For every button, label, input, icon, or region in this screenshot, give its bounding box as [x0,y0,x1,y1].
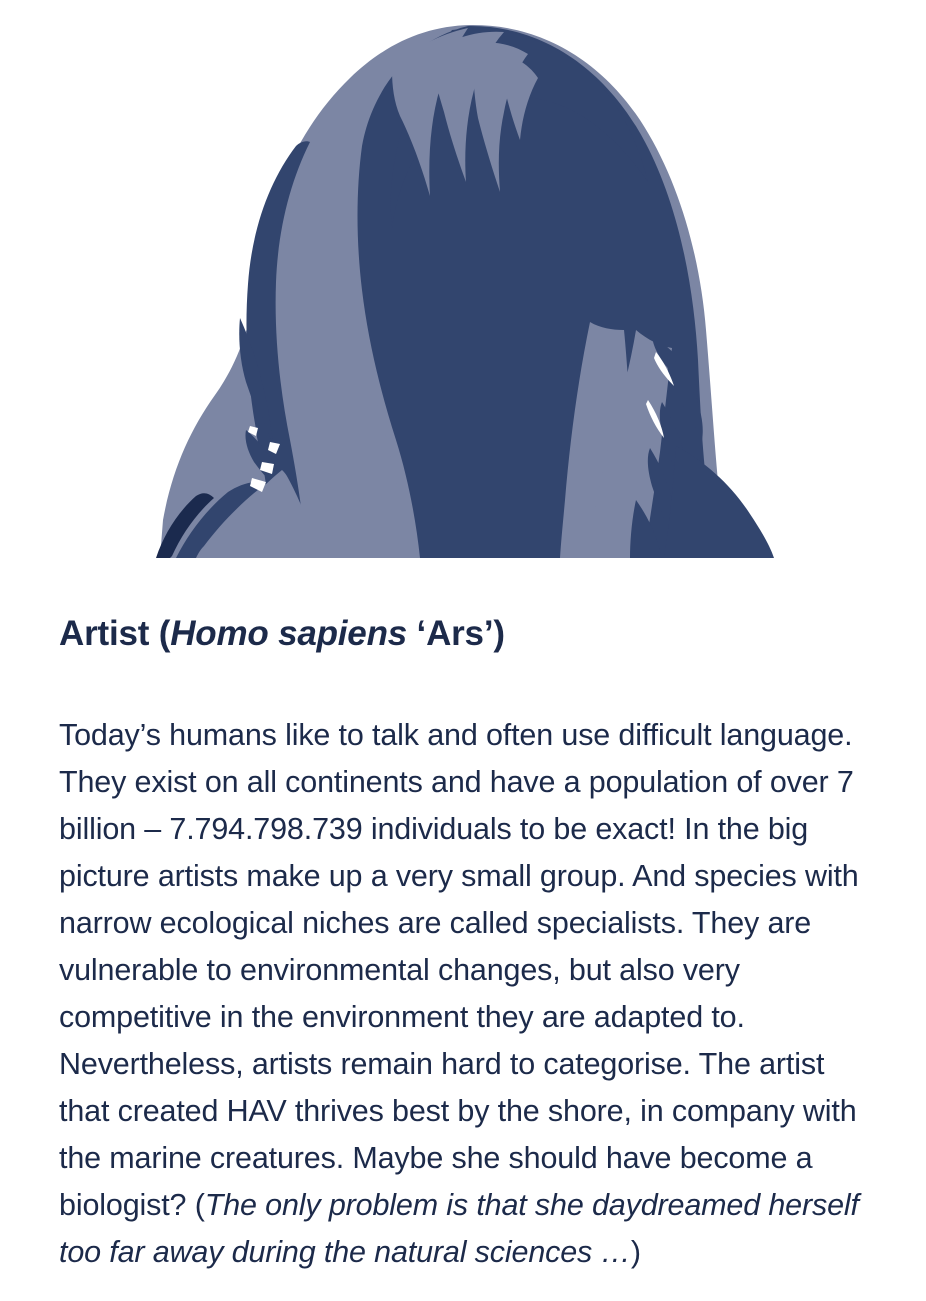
species-variety-name: ‘Ars’) [407,614,505,653]
artist-portrait-illustration [0,0,926,600]
species-common-name: Artist ( [59,614,170,653]
species-scientific-name: Homo sapiens [170,614,407,653]
species-article: Artist (Homo sapiens ‘Ars’) Today’s huma… [59,612,871,1276]
page-title: Artist (Homo sapiens ‘Ars’) [59,612,871,656]
description-main-text: Today’s humans like to talk and often us… [59,718,859,1222]
aside-open-paren: ( [195,1188,205,1222]
right-shoulder [664,446,774,558]
species-description: Today’s humans like to talk and often us… [59,656,871,1276]
portrait-silhouette-shapes [156,25,774,558]
aside-close-paren: ) [631,1235,641,1269]
